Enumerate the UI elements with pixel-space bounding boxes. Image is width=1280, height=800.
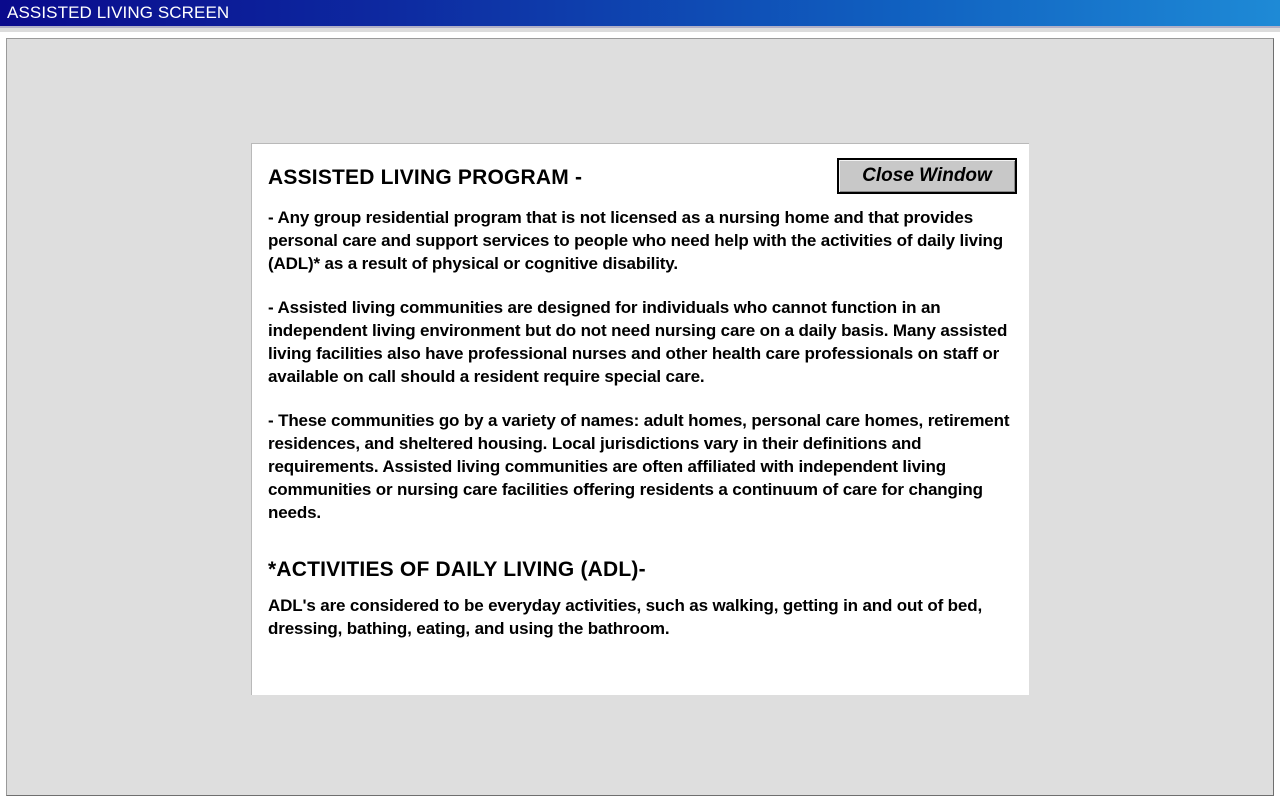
titlebar-separator (0, 26, 1280, 32)
app-window: ASSISTED LIVING SCREEN Close Window ASSI… (0, 0, 1280, 800)
content-card-inner: Close Window ASSISTED LIVING PROGRAM - -… (252, 144, 1029, 695)
adl-definition-paragraph: ADL's are considered to be everyday acti… (268, 594, 1017, 640)
client-area-frame: Close Window ASSISTED LIVING PROGRAM - -… (6, 38, 1274, 796)
content-card: Close Window ASSISTED LIVING PROGRAM - -… (251, 143, 1029, 695)
definition-paragraph-1: - Any group residential program that is … (268, 206, 1017, 275)
definition-paragraph-2: - Assisted living communities are design… (268, 296, 1017, 388)
adl-section-title: *ACTIVITIES OF DAILY LIVING (ADL)- (268, 558, 1017, 582)
close-window-button[interactable]: Close Window (837, 158, 1017, 194)
definition-paragraph-3: - These communities go by a variety of n… (268, 409, 1017, 524)
window-titlebar: ASSISTED LIVING SCREEN (0, 0, 1280, 26)
window-title: ASSISTED LIVING SCREEN (0, 0, 229, 26)
